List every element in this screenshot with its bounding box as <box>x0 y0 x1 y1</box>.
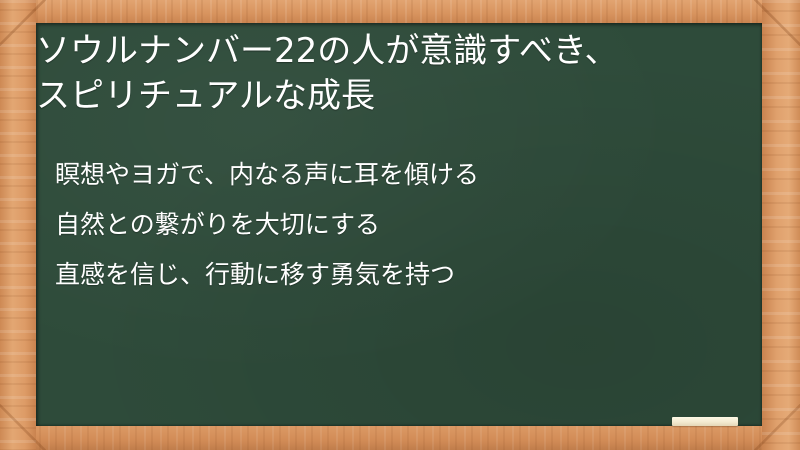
list-item: 自然との繋がりを大切にする <box>55 200 755 250</box>
bullet-list: 瞑想やヨガで、内なる声に耳を傾ける 自然との繋がりを大切にする 直感を信じ、行動… <box>55 150 755 300</box>
slide-title: ソウルナンバー22の人が意識すべき、 スピリチュアルな成長 <box>36 29 752 119</box>
chalkboard-slide: ソウルナンバー22の人が意識すべき、 スピリチュアルな成長 瞑想やヨガで、内なる… <box>0 0 800 450</box>
list-item: 瞑想やヨガで、内なる声に耳を傾ける <box>55 150 755 200</box>
list-item: 直感を信じ、行動に移す勇気を持つ <box>55 250 755 300</box>
frame-rail-right <box>762 0 800 450</box>
chalkboard-content: ソウルナンバー22の人が意識すべき、 スピリチュアルな成長 瞑想やヨガで、内なる… <box>36 23 762 426</box>
chalkboard-surface: ソウルナンバー22の人が意識すべき、 スピリチュアルな成長 瞑想やヨガで、内なる… <box>36 23 762 426</box>
frame-rail-top <box>0 0 800 24</box>
chalk-stick <box>672 417 738 426</box>
frame-rail-bottom <box>0 425 800 450</box>
frame-rail-left <box>0 0 36 450</box>
